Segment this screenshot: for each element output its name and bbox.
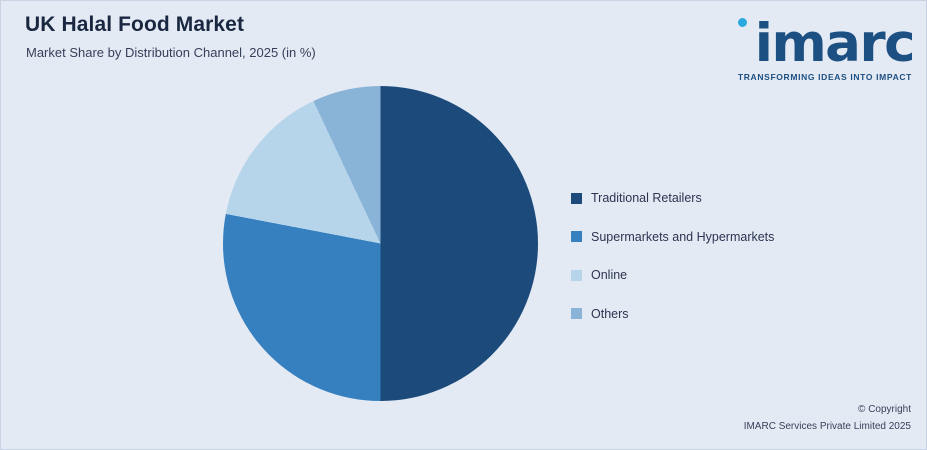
chart-canvas: UK Halal Food Market Market Share by Dis… [0, 0, 927, 450]
copyright-line-2: IMARC Services Private Limited 2025 [744, 418, 911, 435]
imarc-logo: imarc TRANSFORMING IDEAS INTO IMPACT [724, 17, 914, 79]
legend-item[interactable]: Online [571, 256, 871, 295]
legend-label: Others [591, 307, 629, 321]
legend-swatch-icon [571, 270, 582, 281]
legend-item[interactable]: Supermarkets and Hypermarkets [571, 218, 871, 257]
chart-legend: Traditional RetailersSupermarkets and Hy… [571, 179, 871, 333]
copyright-notice: © Copyright IMARC Services Private Limit… [744, 401, 911, 435]
logo-tagline: TRANSFORMING IDEAS INTO IMPACT [738, 72, 912, 82]
legend-label: Traditional Retailers [591, 191, 702, 205]
legend-item[interactable]: Traditional Retailers [571, 179, 871, 218]
legend-swatch-icon [571, 231, 582, 242]
copyright-line-1: © Copyright [744, 401, 911, 418]
logo-dot-icon [738, 18, 747, 27]
legend-swatch-icon [571, 193, 582, 204]
legend-label: Supermarkets and Hypermarkets [591, 230, 774, 244]
pie-chart [223, 86, 538, 401]
legend-item[interactable]: Others [571, 295, 871, 334]
logo-wordmark: imarc [755, 17, 914, 70]
legend-label: Online [591, 268, 627, 282]
legend-swatch-icon [571, 308, 582, 319]
chart-subtitle: Market Share by Distribution Channel, 20… [26, 45, 316, 60]
pie-slices [223, 86, 538, 401]
page-title: UK Halal Food Market [25, 13, 244, 37]
